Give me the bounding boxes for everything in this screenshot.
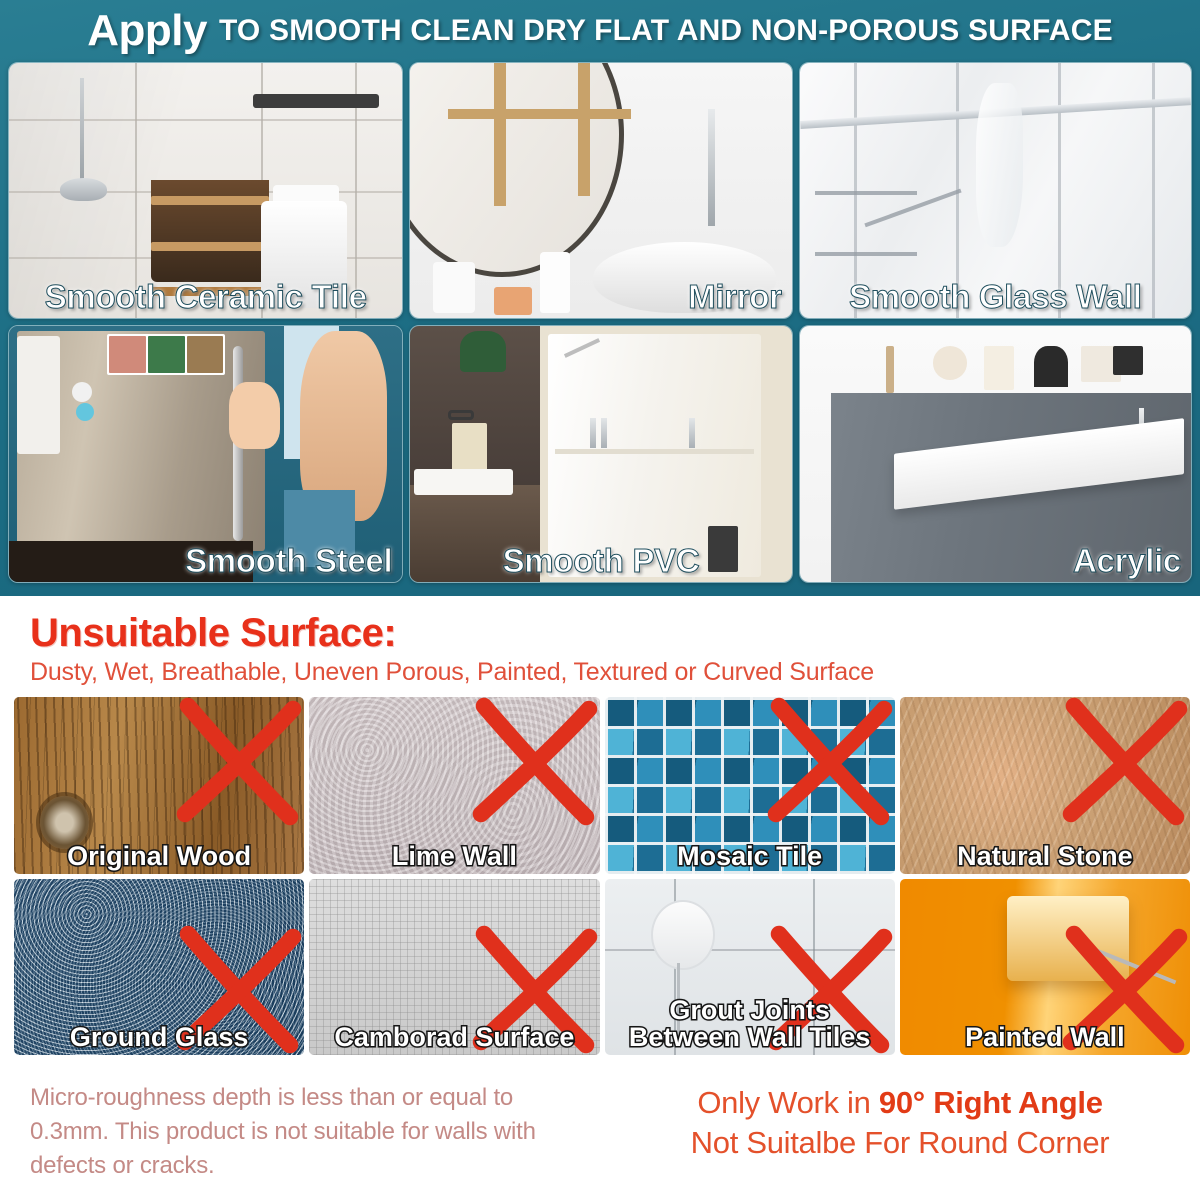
apply-tile-grid: Smooth Ceramic Tile Mir [8,62,1192,583]
apply-tile-label: Smooth Steel [9,542,402,580]
apply-tile-row: Smooth Steel [8,325,1192,583]
unsuitable-tile-label: Painted Wall [900,1024,1190,1052]
unsuitable-tile-painted-wall[interactable]: Painted Wall [900,879,1190,1056]
apply-tile-steel[interactable]: Smooth Steel [8,325,403,583]
right-angle-note-line1: Only Work in 90° Right Angle [600,1083,1200,1123]
unsuitable-tile-ground-glass[interactable]: Ground Glass [14,879,304,1056]
unsuitable-tile-label-line1: Grout Joints [669,995,830,1025]
unsuitable-tile-original-wood[interactable]: Original Wood [14,697,304,874]
apply-tile-pvc[interactable]: Smooth PVC [409,325,792,583]
apply-tile-label: Mirror [410,278,791,316]
apply-tile-label: Smooth Glass Wall [800,278,1191,316]
right-angle-prefix: Only Work in [697,1085,879,1120]
unsuitable-tile-label: Mosaic Tile [605,843,895,871]
unsuitable-title: Unsuitable Surface: [0,596,1200,654]
apply-tile-label: Smooth PVC [410,542,791,580]
unsuitable-tile-label: Original Wood [14,843,304,871]
apply-tile-label: Acrylic [800,542,1191,580]
apply-tile-label: Smooth Ceramic Tile [9,278,402,316]
unsuitable-tile-natural-stone[interactable]: Natural Stone [900,697,1190,874]
unsuitable-tile-camborad-surface[interactable]: Camborad Surface [309,879,599,1056]
apply-tile-mirror[interactable]: Mirror [409,62,792,319]
apply-header: Apply TO SMOOTH CLEAN DRY FLAT AND NON-P… [8,0,1192,62]
micro-roughness-note: Micro-roughness depth is less than or eq… [30,1081,550,1183]
right-angle-strong: 90° Right Angle [879,1085,1103,1120]
apply-heading-word: Apply [87,9,207,53]
apply-tile-acrylic[interactable]: Acrylic [799,325,1192,583]
infographic-page: Apply TO SMOOTH CLEAN DRY FLAT AND NON-P… [0,0,1200,1200]
unsuitable-tile-grout-joints[interactable]: Grout Joints Between Wall Tiles [605,879,895,1056]
unsuitable-tile-grid: Original Wood Lime Wall Mosaic Tile [14,697,1190,1055]
unsuitable-tile-label: Grout Joints Between Wall Tiles [605,997,895,1052]
unsuitable-tile-label: Ground Glass [14,1024,304,1052]
right-angle-note: Only Work in 90° Right Angle Not Suitalb… [600,1083,1200,1164]
unsuitable-subtitle: Dusty, Wet, Breathable, Uneven Porous, P… [0,654,1200,687]
apply-tile-glass-wall[interactable]: Smooth Glass Wall [799,62,1192,319]
apply-section: Apply TO SMOOTH CLEAN DRY FLAT AND NON-P… [0,0,1200,596]
apply-tile-ceramic[interactable]: Smooth Ceramic Tile [8,62,403,319]
apply-heading-rest: TO SMOOTH CLEAN DRY FLAT AND NON-POROUS … [219,16,1113,46]
unsuitable-tile-label: Camborad Surface [309,1024,599,1052]
apply-tile-row: Smooth Ceramic Tile Mir [8,62,1192,319]
unsuitable-tile-mosaic-tile[interactable]: Mosaic Tile [605,697,895,874]
unsuitable-tile-lime-wall[interactable]: Lime Wall [309,697,599,874]
unsuitable-tile-label: Lime Wall [309,843,599,871]
unsuitable-tile-label: Natural Stone [900,843,1190,871]
right-angle-note-line2: Not Suitalbe For Round Corner [600,1123,1200,1163]
footer-notes: Micro-roughness depth is less than or eq… [0,1073,1200,1200]
unsuitable-tile-label-line2: Between Wall Tiles [629,1022,871,1052]
